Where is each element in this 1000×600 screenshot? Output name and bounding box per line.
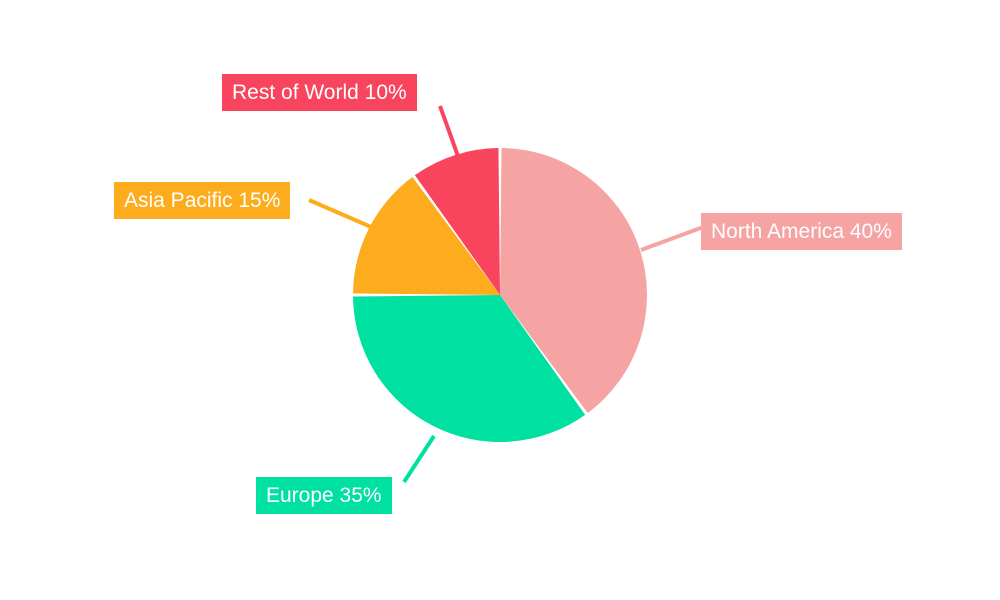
pie-chart-canvas (0, 0, 1000, 600)
pie-chart: North America 40% Europe 35% Asia Pacifi… (0, 0, 1000, 600)
leader-line-north-america (641, 226, 706, 250)
leader-line-europe (404, 436, 434, 482)
pie-label-text: Asia Pacific 15% (124, 190, 280, 211)
pie-label-rest-of-world[interactable]: Rest of World 10% (222, 74, 417, 111)
pie-label-text: Europe 35% (266, 485, 382, 506)
pie-label-europe[interactable]: Europe 35% (256, 477, 392, 514)
leader-line-rest-of-world (440, 106, 459, 159)
pie-label-asia-pacific[interactable]: Asia Pacific 15% (114, 182, 290, 219)
pie-label-north-america[interactable]: North America 40% (701, 213, 902, 250)
pie-label-text: North America 40% (711, 221, 892, 242)
pie-label-text: Rest of World 10% (232, 82, 407, 103)
